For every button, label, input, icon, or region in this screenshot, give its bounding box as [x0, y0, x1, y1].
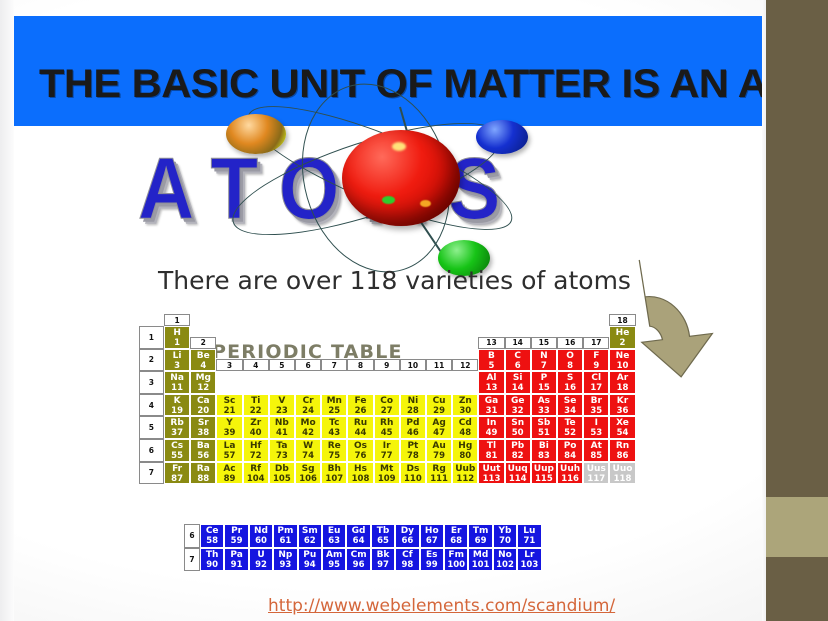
element-symbol: Dy: [396, 527, 418, 536]
element-cell-Rn[interactable]: Rn86: [609, 439, 635, 462]
element-cell-Cd[interactable]: Cd48: [452, 416, 478, 439]
element-cell-P[interactable]: P15: [531, 371, 557, 394]
element-cell-Tl[interactable]: Tl81: [478, 439, 504, 462]
element-symbol: Ne: [610, 352, 634, 361]
element-symbol: As: [532, 397, 556, 406]
element-symbol: Ar: [610, 374, 634, 383]
element-cell-Hg[interactable]: Hg80: [452, 439, 478, 462]
element-number: 101: [469, 561, 491, 570]
element-number: 83: [532, 452, 556, 461]
element-cell-Se[interactable]: Se34: [557, 394, 583, 417]
element-symbol: No: [494, 551, 516, 560]
element-cell-Na[interactable]: Na11: [164, 371, 190, 394]
element-symbol: Bi: [532, 442, 556, 451]
element-cell-Lr[interactable]: Lr103: [517, 548, 541, 572]
nucleus-highlight-yellow: [392, 142, 406, 151]
element-cell-Sg[interactable]: Sg106: [295, 462, 321, 485]
element-symbol: Fe: [348, 397, 372, 406]
element-cell-Fe[interactable]: Fe26: [347, 394, 373, 417]
element-number: 55: [165, 452, 189, 461]
element-cell-Tb[interactable]: Tb65: [371, 524, 395, 548]
period-header-1: 1: [139, 326, 164, 349]
element-cell-Cs[interactable]: Cs55: [164, 439, 190, 462]
blue-electron-icon: [476, 120, 528, 154]
element-number: 91: [225, 561, 247, 570]
element-cell-Xe[interactable]: Xe54: [609, 416, 635, 439]
element-cell-C[interactable]: C6: [505, 349, 531, 372]
element-symbol: Ca: [191, 397, 215, 406]
element-cell-Nd[interactable]: Nd60: [249, 524, 273, 548]
group-header-15: 15: [531, 337, 557, 349]
element-symbol: Ds: [401, 465, 425, 474]
element-number: 96: [347, 561, 369, 570]
element-cell-Hf[interactable]: Hf72: [243, 439, 269, 462]
element-symbol: Hf: [244, 442, 268, 451]
element-number: 81: [479, 452, 503, 461]
element-symbol: At: [584, 442, 608, 451]
element-symbol: Tm: [469, 527, 491, 536]
element-cell-Mn[interactable]: Mn25: [321, 394, 347, 417]
element-cell-Md[interactable]: Md101: [468, 548, 492, 572]
element-symbol: F: [584, 352, 608, 361]
source-url-link[interactable]: http://www.webelements.com/scandium/: [268, 596, 615, 616]
element-symbol: Be: [191, 352, 215, 361]
element-number: 30: [453, 407, 477, 416]
element-number: 26: [348, 407, 372, 416]
element-cell-Am[interactable]: Am95: [322, 548, 346, 572]
element-number: 65: [372, 537, 394, 546]
group-header-3: 3: [216, 359, 242, 371]
element-cell-Tc[interactable]: Tc43: [321, 416, 347, 439]
element-cell-K[interactable]: K19: [164, 394, 190, 417]
element-symbol: La: [217, 442, 241, 451]
element-cell-Pu[interactable]: Pu94: [298, 548, 322, 572]
element-cell-Np[interactable]: Np93: [273, 548, 297, 572]
element-symbol: Th: [201, 551, 223, 560]
element-cell-Bh[interactable]: Bh107: [321, 462, 347, 485]
element-number: 109: [375, 475, 399, 484]
element-cell-Ti[interactable]: Ti22: [243, 394, 269, 417]
element-number: 71: [518, 537, 540, 546]
element-number: 49: [479, 429, 503, 438]
element-symbol: Po: [558, 442, 582, 451]
element-cell-Ds[interactable]: Ds110: [400, 462, 426, 485]
element-symbol: Ce: [201, 527, 223, 536]
element-symbol: Pt: [401, 442, 425, 451]
element-symbol: Ni: [401, 397, 425, 406]
element-cell-Ge[interactable]: Ge32: [505, 394, 531, 417]
group-header-4: 4: [243, 359, 269, 371]
element-symbol: W: [296, 442, 320, 451]
element-number: 94: [299, 561, 321, 570]
element-symbol: Uuq: [506, 465, 530, 474]
element-symbol: Xe: [610, 419, 634, 428]
element-number: 110: [401, 475, 425, 484]
element-symbol: Yb: [494, 527, 516, 536]
period-header-2: 2: [139, 349, 164, 372]
element-cell-Lu[interactable]: Lu71: [517, 524, 541, 548]
element-number: 59: [225, 537, 247, 546]
element-number: 67: [421, 537, 443, 546]
element-cell-La[interactable]: La57: [216, 439, 242, 462]
element-cell-Y[interactable]: Y39: [216, 416, 242, 439]
element-cell-Uup[interactable]: Uup115: [531, 462, 557, 485]
element-cell-Yb[interactable]: Yb70: [493, 524, 517, 548]
element-cell-Es[interactable]: Es99: [420, 548, 444, 572]
element-cell-Ra[interactable]: Ra88: [190, 462, 216, 485]
element-number: 10: [610, 362, 634, 371]
element-number: 39: [217, 429, 241, 438]
element-symbol: Re: [322, 442, 346, 451]
element-number: 93: [274, 561, 296, 570]
period-header-6: 6: [139, 439, 164, 462]
element-symbol: Ir: [375, 442, 399, 451]
element-cell-Rg[interactable]: Rg111: [426, 462, 452, 485]
element-cell-Dy[interactable]: Dy66: [395, 524, 419, 548]
element-cell-Uuo[interactable]: Uuo118: [609, 462, 635, 485]
period-header-7: 7: [139, 462, 164, 485]
element-cell-Mg[interactable]: Mg12: [190, 371, 216, 394]
element-symbol: P: [532, 374, 556, 383]
element-cell-Co[interactable]: Co27: [374, 394, 400, 417]
element-cell-Te[interactable]: Te52: [557, 416, 583, 439]
element-symbol: Uub: [453, 465, 477, 474]
element-symbol: Cd: [453, 419, 477, 428]
element-cell-Si[interactable]: Si14: [505, 371, 531, 394]
element-symbol: Os: [348, 442, 372, 451]
element-number: 102: [494, 561, 516, 570]
element-cell-Sm[interactable]: Sm62: [298, 524, 322, 548]
element-number: 25: [322, 407, 346, 416]
element-number: 106: [296, 475, 320, 484]
element-cell-Be[interactable]: Be4: [190, 349, 216, 372]
element-cell-U[interactable]: U92: [249, 548, 273, 572]
element-number: 28: [401, 407, 425, 416]
periodic-table: PERIODIC TABLE 1234567891011121314151617…: [136, 300, 628, 502]
element-number: 85: [584, 452, 608, 461]
element-symbol: B: [479, 352, 503, 361]
element-cell-Pd[interactable]: Pd46: [400, 416, 426, 439]
element-number: 24: [296, 407, 320, 416]
element-number: 38: [191, 429, 215, 438]
element-cell-B[interactable]: B5: [478, 349, 504, 372]
element-cell-O[interactable]: O8: [557, 349, 583, 372]
element-number: 42: [296, 429, 320, 438]
element-cell-At[interactable]: At85: [583, 439, 609, 462]
element-cell-Mt[interactable]: Mt109: [374, 462, 400, 485]
element-cell-W[interactable]: W74: [295, 439, 321, 462]
element-cell-Al[interactable]: Al13: [478, 371, 504, 394]
element-symbol: Al: [479, 374, 503, 383]
element-symbol: Pa: [225, 551, 247, 560]
element-symbol: Hs: [348, 465, 372, 474]
element-cell-Cr[interactable]: Cr24: [295, 394, 321, 417]
element-symbol: Np: [274, 551, 296, 560]
element-cell-Li[interactable]: Li3: [164, 349, 190, 372]
element-symbol: Ra: [191, 465, 215, 474]
group-header-11: 11: [426, 359, 452, 371]
element-number: 37: [165, 429, 189, 438]
element-number: 70: [494, 537, 516, 546]
element-cell-Br[interactable]: Br35: [583, 394, 609, 417]
element-symbol: Sc: [217, 397, 241, 406]
element-cell-Os[interactable]: Os76: [347, 439, 373, 462]
element-symbol: Db: [270, 465, 294, 474]
element-cell-Ba[interactable]: Ba56: [190, 439, 216, 462]
element-number: 99: [421, 561, 443, 570]
element-number: 50: [506, 429, 530, 438]
element-symbol: Au: [427, 442, 451, 451]
element-cell-Sc[interactable]: Sc21: [216, 394, 242, 417]
element-symbol: Tl: [479, 442, 503, 451]
element-number: 108: [348, 475, 372, 484]
element-number: 57: [217, 452, 241, 461]
element-symbol: Cf: [396, 551, 418, 560]
element-number: 46: [401, 429, 425, 438]
element-number: 27: [375, 407, 399, 416]
element-number: 61: [274, 537, 296, 546]
element-cell-He[interactable]: He2: [609, 326, 635, 349]
element-cell-F[interactable]: F9: [583, 349, 609, 372]
element-cell-Ac[interactable]: Ac89: [216, 462, 242, 485]
element-symbol: Uuh: [558, 465, 582, 474]
element-number: 104: [244, 475, 268, 484]
element-number: 33: [532, 407, 556, 416]
period-header-3: 3: [139, 371, 164, 394]
element-cell-Ag[interactable]: Ag47: [426, 416, 452, 439]
element-number: 111: [427, 475, 451, 484]
element-symbol: Co: [375, 397, 399, 406]
element-number: 80: [453, 452, 477, 461]
curved-arrow-icon: [628, 252, 748, 392]
element-cell-Uuh[interactable]: Uuh116: [557, 462, 583, 485]
element-symbol: He: [610, 329, 634, 338]
subtitle-text: There are over 118 varieties of atoms: [158, 266, 631, 295]
element-number: 115: [532, 475, 556, 484]
element-cell-Ar[interactable]: Ar18: [609, 371, 635, 394]
element-symbol: C: [506, 352, 530, 361]
element-cell-Ho[interactable]: Ho67: [420, 524, 444, 548]
element-cell-Cf[interactable]: Cf98: [395, 548, 419, 572]
element-symbol: Rg: [427, 465, 451, 474]
element-number: 34: [558, 407, 582, 416]
element-cell-Fr[interactable]: Fr87: [164, 462, 190, 485]
element-symbol: Ag: [427, 419, 451, 428]
element-cell-Ga[interactable]: Ga31: [478, 394, 504, 417]
element-cell-N[interactable]: N7: [531, 349, 557, 372]
element-number: 22: [244, 407, 268, 416]
element-cell-Zn[interactable]: Zn30: [452, 394, 478, 417]
element-number: 20: [191, 407, 215, 416]
element-symbol: Tc: [322, 419, 346, 428]
element-cell-Sn[interactable]: Sn50: [505, 416, 531, 439]
element-cell-Re[interactable]: Re75: [321, 439, 347, 462]
element-number: 72: [244, 452, 268, 461]
element-number: 23: [270, 407, 294, 416]
element-symbol: Na: [165, 374, 189, 383]
element-cell-Rb[interactable]: Rb37: [164, 416, 190, 439]
element-cell-Uut[interactable]: Uut113: [478, 462, 504, 485]
element-symbol: Zr: [244, 419, 268, 428]
element-number: 1: [165, 339, 189, 348]
element-cell-Ta[interactable]: Ta73: [269, 439, 295, 462]
element-cell-Db[interactable]: Db105: [269, 462, 295, 485]
nucleus-highlight-orange: [420, 200, 431, 207]
element-cell-Au[interactable]: Au79: [426, 439, 452, 462]
element-symbol: Bh: [322, 465, 346, 474]
element-symbol: H: [165, 329, 189, 338]
element-cell-Sr[interactable]: Sr38: [190, 416, 216, 439]
element-number: 2: [610, 339, 634, 348]
element-cell-Bk[interactable]: Bk97: [371, 548, 395, 572]
element-number: 82: [506, 452, 530, 461]
element-symbol: Ru: [348, 419, 372, 428]
element-symbol: Mg: [191, 374, 215, 383]
element-symbol: Uut: [479, 465, 503, 474]
element-cell-Rh[interactable]: Rh45: [374, 416, 400, 439]
element-number: 35: [584, 407, 608, 416]
element-number: 66: [396, 537, 418, 546]
element-number: 7: [532, 362, 556, 371]
element-symbol: Te: [558, 419, 582, 428]
element-number: 68: [445, 537, 467, 546]
element-number: 17: [584, 384, 608, 393]
element-number: 40: [244, 429, 268, 438]
element-cell-Zr[interactable]: Zr40: [243, 416, 269, 439]
element-cell-Fm[interactable]: Fm100: [444, 548, 468, 572]
element-symbol: Pd: [401, 419, 425, 428]
group-header-9: 9: [374, 359, 400, 371]
element-cell-Kr[interactable]: Kr36: [609, 394, 635, 417]
element-cell-Uus[interactable]: Uus117: [583, 462, 609, 485]
element-cell-Th[interactable]: Th90: [200, 548, 224, 572]
element-cell-Ni[interactable]: Ni28: [400, 394, 426, 417]
period-header-4: 4: [139, 394, 164, 417]
element-cell-Ir[interactable]: Ir77: [374, 439, 400, 462]
element-cell-S[interactable]: S16: [557, 371, 583, 394]
element-number: 6: [506, 362, 530, 371]
element-cell-V[interactable]: V23: [269, 394, 295, 417]
element-cell-No[interactable]: No102: [493, 548, 517, 572]
element-cell-Ru[interactable]: Ru44: [347, 416, 373, 439]
element-cell-Rf[interactable]: Rf104: [243, 462, 269, 485]
element-number: 86: [610, 452, 634, 461]
group-header-6: 6: [295, 359, 321, 371]
element-cell-Po[interactable]: Po84: [557, 439, 583, 462]
element-symbol: Zn: [453, 397, 477, 406]
element-symbol: Li: [165, 352, 189, 361]
element-number: 3: [165, 362, 189, 371]
element-symbol: Pu: [299, 551, 321, 560]
element-cell-Cu[interactable]: Cu29: [426, 394, 452, 417]
element-symbol: Mt: [375, 465, 399, 474]
element-symbol: Fm: [445, 551, 467, 560]
element-symbol: Md: [469, 551, 491, 560]
element-cell-Ce[interactable]: Ce58: [200, 524, 224, 548]
element-cell-Gd[interactable]: Gd64: [346, 524, 370, 548]
element-cell-Pb[interactable]: Pb82: [505, 439, 531, 462]
element-symbol: Ba: [191, 442, 215, 451]
element-symbol: Mn: [322, 397, 346, 406]
element-symbol: Er: [445, 527, 467, 536]
element-number: 16: [558, 384, 582, 393]
nucleus-highlight-green: [382, 196, 395, 204]
element-number: 62: [299, 537, 321, 546]
element-cell-I[interactable]: I53: [583, 416, 609, 439]
element-number: 114: [506, 475, 530, 484]
element-cell-Eu[interactable]: Eu63: [322, 524, 346, 548]
element-number: 107: [322, 475, 346, 484]
element-number: 116: [558, 475, 582, 484]
element-symbol: Cs: [165, 442, 189, 451]
element-cell-Tm[interactable]: Tm69: [468, 524, 492, 548]
element-number: 53: [584, 429, 608, 438]
group-header-1: 1: [164, 314, 190, 326]
group-header-2: 2: [190, 337, 216, 349]
lanthanide-actinide-block: 6Ce58Pr59Nd60Pm61Sm62Eu63Gd64Tb65Dy66Ho6…: [184, 524, 536, 574]
element-symbol: Sr: [191, 419, 215, 428]
element-number: 4: [191, 362, 215, 371]
element-number: 84: [558, 452, 582, 461]
element-symbol: Ac: [217, 465, 241, 474]
element-symbol: Kr: [610, 397, 634, 406]
element-number: 12: [191, 384, 215, 393]
element-cell-Ne[interactable]: Ne10: [609, 349, 635, 372]
element-cell-As[interactable]: As33: [531, 394, 557, 417]
element-symbol: Sm: [299, 527, 321, 536]
element-symbol: Bk: [372, 551, 394, 560]
element-cell-Er[interactable]: Er68: [444, 524, 468, 548]
page-title: THE BASIC UNIT OF MATTER IS AN ATOM: [39, 62, 828, 107]
element-number: 105: [270, 475, 294, 484]
element-symbol: Cl: [584, 374, 608, 383]
element-cell-Sb[interactable]: Sb51: [531, 416, 557, 439]
element-cell-H[interactable]: H1: [164, 326, 190, 349]
element-cell-Cl[interactable]: Cl17: [583, 371, 609, 394]
element-cell-Nb[interactable]: Nb41: [269, 416, 295, 439]
element-cell-In[interactable]: In49: [478, 416, 504, 439]
group-header-7: 7: [321, 359, 347, 371]
group-header-12: 12: [452, 359, 478, 371]
element-number: 90: [201, 561, 223, 570]
element-symbol: Cr: [296, 397, 320, 406]
group-header-14: 14: [505, 337, 531, 349]
element-cell-Uub[interactable]: Uub112: [452, 462, 478, 485]
element-symbol: V: [270, 397, 294, 406]
element-cell-Pt[interactable]: Pt78: [400, 439, 426, 462]
element-cell-Bi[interactable]: Bi83: [531, 439, 557, 462]
element-symbol: Se: [558, 397, 582, 406]
element-number: 29: [427, 407, 451, 416]
element-cell-Pr[interactable]: Pr59: [224, 524, 248, 548]
element-number: 113: [479, 475, 503, 484]
element-cell-Pm[interactable]: Pm61: [273, 524, 297, 548]
element-cell-Hs[interactable]: Hs108: [347, 462, 373, 485]
element-number: 64: [347, 537, 369, 546]
element-symbol: Ga: [479, 397, 503, 406]
element-symbol: Fr: [165, 465, 189, 474]
element-symbol: Uus: [584, 465, 608, 474]
element-symbol: Lr: [518, 551, 540, 560]
element-symbol: Sg: [296, 465, 320, 474]
element-cell-Cm[interactable]: Cm96: [346, 548, 370, 572]
element-cell-Pa[interactable]: Pa91: [224, 548, 248, 572]
element-number: 89: [217, 475, 241, 484]
element-cell-Uuq[interactable]: Uuq114: [505, 462, 531, 485]
element-cell-Ca[interactable]: Ca20: [190, 394, 216, 417]
element-symbol: Sn: [506, 419, 530, 428]
element-cell-Mo[interactable]: Mo42: [295, 416, 321, 439]
